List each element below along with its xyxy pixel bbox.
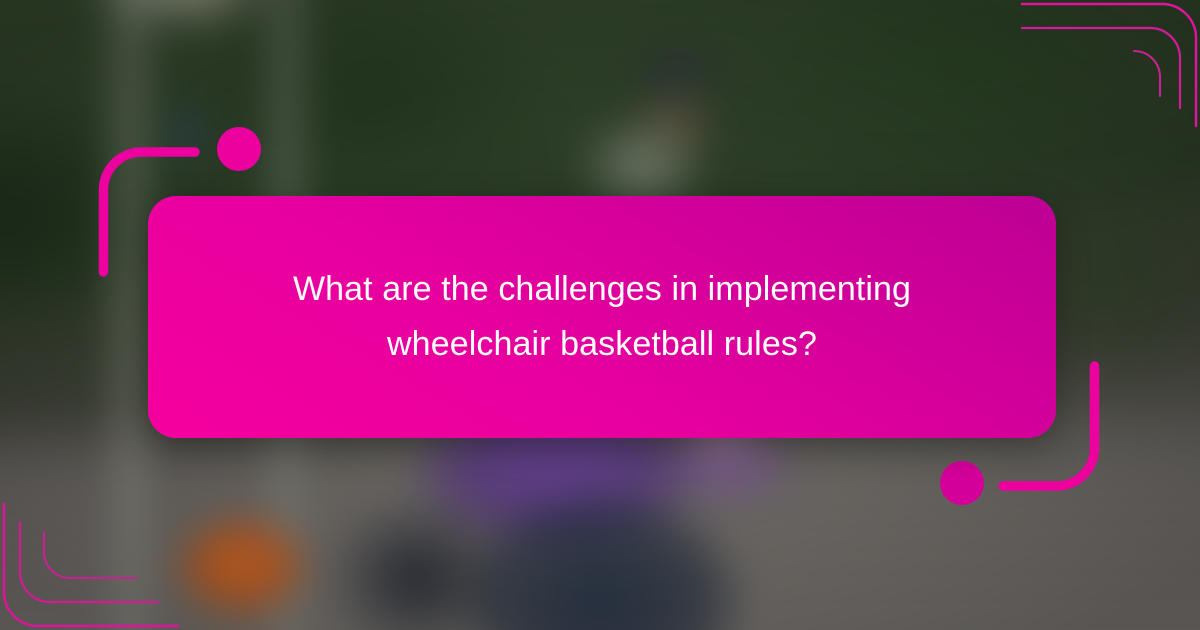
question-text: What are the challenges in implementing … [232,262,972,372]
question-card: What are the challenges in implementing … [148,196,1056,438]
banner-stage: What are the challenges in implementing … [0,0,1200,630]
decorative-dot-top [217,127,261,171]
decorative-dot-bottom [940,461,984,505]
